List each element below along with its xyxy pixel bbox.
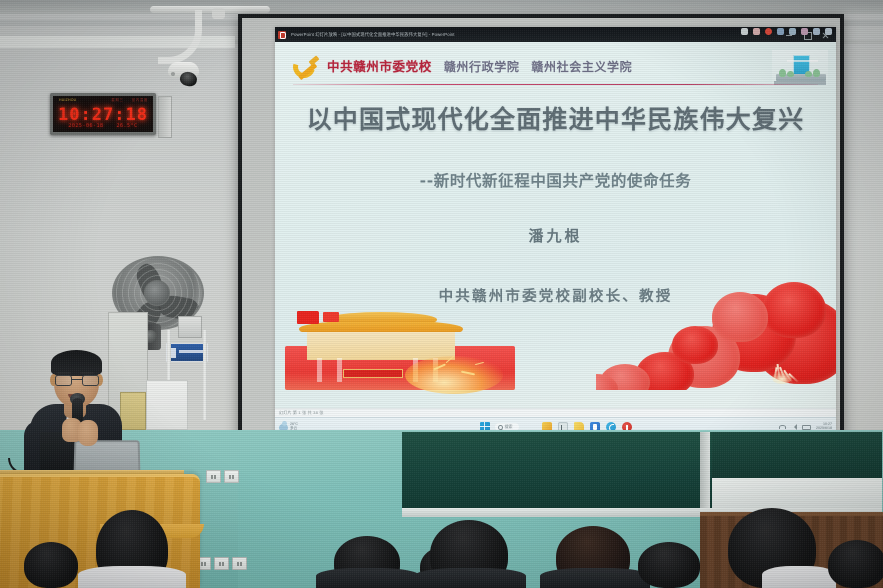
- ime-icon[interactable]: [825, 28, 832, 35]
- audience-head: [828, 540, 883, 588]
- power-socket[interactable]: [224, 470, 239, 483]
- power-socket[interactable]: [214, 557, 229, 570]
- led-wall-clock: HUIZHOU 星期三 室内温度 10:27:18 2025-06-18 26.…: [50, 93, 156, 135]
- camera-led-icon: [171, 72, 175, 76]
- ime-icon[interactable]: [741, 28, 748, 35]
- ime-icon[interactable]: [801, 28, 808, 35]
- header-divider: [293, 84, 818, 85]
- red-peony-icon: [596, 280, 836, 390]
- lecture-hall-scene: HUIZHOU 星期三 室内温度 10:27:18 2025-06-18 26.…: [0, 0, 883, 588]
- campus-building-icon: [772, 50, 828, 86]
- wall-panel-wood: [120, 392, 146, 430]
- search-icon: [498, 425, 503, 430]
- wall-pipe: [203, 330, 207, 420]
- clock-brand-label: HUIZHOU: [59, 98, 76, 102]
- clock-temp-caption: 室内温度: [132, 98, 148, 103]
- audience-shoulder: [762, 566, 836, 588]
- power-socket[interactable]: [232, 557, 247, 570]
- window-title-text: PowerPoint 幻灯片放映 - [以中国式现代化全面推进中华民族伟大复兴]…: [291, 32, 455, 38]
- audience-shoulder: [540, 568, 650, 588]
- chalkboard-side-panel: [712, 432, 882, 478]
- hammer-and-sickle-icon: [291, 54, 321, 82]
- institution-names: 中共赣州市委党校 赣州行政学院 赣州社会主义学院: [327, 56, 632, 75]
- eyeglasses-icon: [54, 375, 100, 386]
- clock-date-value: 2025-06-18: [68, 123, 103, 129]
- fan-hub: [144, 280, 170, 306]
- projection-screen: PowerPoint 幻灯片放映 - [以中国式现代化全面推进中华民族伟大复兴]…: [238, 14, 844, 444]
- speaker-eyebrow: [57, 372, 71, 374]
- audience-shoulder: [78, 566, 186, 588]
- board-wall-panel: [712, 478, 882, 512]
- powerpoint-window: PowerPoint 幻灯片放映 - [以中国式现代化全面推进中华民族伟大复兴]…: [275, 27, 836, 436]
- wall-panel-white: [146, 380, 188, 430]
- ime-icon[interactable]: [789, 28, 796, 35]
- speaker-name: 潘九根: [275, 225, 836, 246]
- ime-icon[interactable]: [777, 28, 784, 35]
- tray-ime-row: [741, 28, 832, 35]
- speaker-hand: [78, 420, 98, 446]
- audience-head: [638, 542, 700, 588]
- clock-weekday-label: 星期三: [111, 98, 123, 103]
- ime-icon[interactable]: [813, 28, 820, 35]
- notify-icon[interactable]: [765, 28, 772, 35]
- audience-shoulder: [414, 568, 526, 588]
- institution-name-secondary: 赣州行政学院: [444, 58, 520, 75]
- audience-head: [24, 542, 78, 588]
- clock-header-labels: 星期三 室内温度: [111, 98, 148, 103]
- tiananmen-gate-icon: [285, 298, 515, 390]
- clock-sub-display: 2025-06-18 26.5°C: [53, 123, 153, 129]
- wifi-icon[interactable]: [779, 425, 786, 429]
- institution-name-primary: 中共赣州市委党校: [327, 56, 432, 75]
- clock-temp-value: 26.5°C: [117, 123, 138, 129]
- slide-subtitle: --新时代新征程中国共产党的使命任务: [275, 169, 836, 191]
- clock-time-display: 10:27:18: [53, 105, 153, 125]
- exit-sign: [166, 343, 208, 362]
- powerpoint-logo-icon: [278, 31, 286, 39]
- slide-counter: 幻灯片 第 1 张 共 38 张: [279, 410, 324, 416]
- audience-shoulder: [316, 568, 420, 588]
- ime-icon[interactable]: [753, 28, 760, 35]
- speaker-eyebrow: [80, 372, 94, 374]
- wall-switch-box[interactable]: [178, 316, 202, 338]
- power-socket[interactable]: [206, 470, 221, 483]
- battery-icon[interactable]: [802, 425, 811, 430]
- powerpoint-status-bar: 幻灯片 第 1 张 共 38 张: [275, 408, 836, 417]
- institution-name-tertiary: 赣州社会主义学院: [531, 58, 632, 75]
- pipe-clip: [212, 8, 225, 19]
- slide-header: 中共赣州市委党校 赣州行政学院 赣州社会主义学院: [275, 46, 836, 86]
- slide-canvas: 中共赣州市委党校 赣州行政学院 赣州社会主义学院: [275, 42, 836, 408]
- chalkboard-divider: [700, 432, 710, 512]
- slide-title: 以中国式现代化全面推进中华民族伟大复兴: [275, 100, 836, 136]
- ceiling-beam: [0, 0, 883, 14]
- wall-plate: [158, 96, 172, 138]
